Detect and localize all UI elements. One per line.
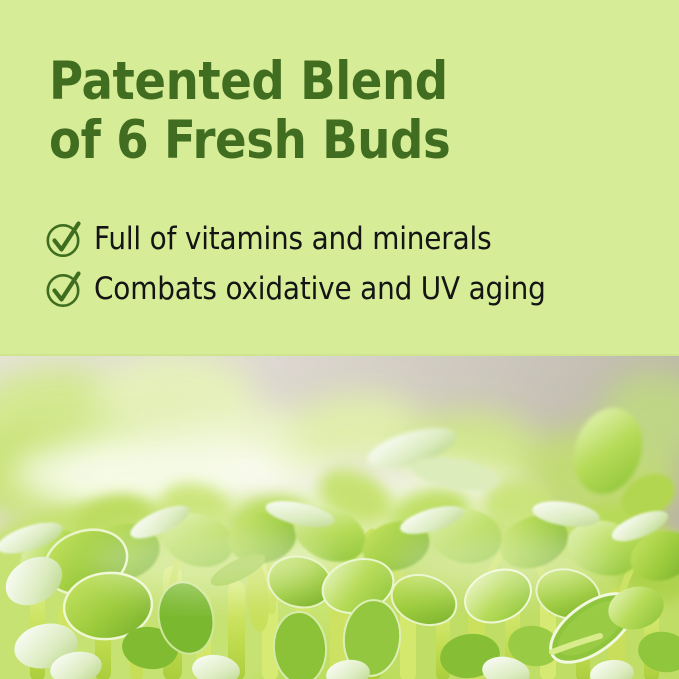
sprouts-photo (0, 356, 679, 679)
check-circle-icon (44, 219, 84, 259)
list-item: Full of vitamins and minerals (44, 214, 664, 264)
product-feature-banner: Patented Blend of 6 Fresh Buds Full of v… (0, 0, 679, 679)
list-item: Combats oxidative and UV aging (44, 264, 664, 314)
sprouts-illustration (0, 356, 679, 679)
page-title: Patented Blend of 6 Fresh Buds (49, 52, 577, 170)
headline-panel: Patented Blend of 6 Fresh Buds Full of v… (0, 0, 679, 356)
check-circle-icon (44, 269, 84, 309)
list-item-label: Combats oxidative and UV aging (94, 272, 546, 306)
list-item-label: Full of vitamins and minerals (94, 222, 491, 256)
benefit-list: Full of vitamins and minerals Combats ox… (44, 214, 664, 314)
